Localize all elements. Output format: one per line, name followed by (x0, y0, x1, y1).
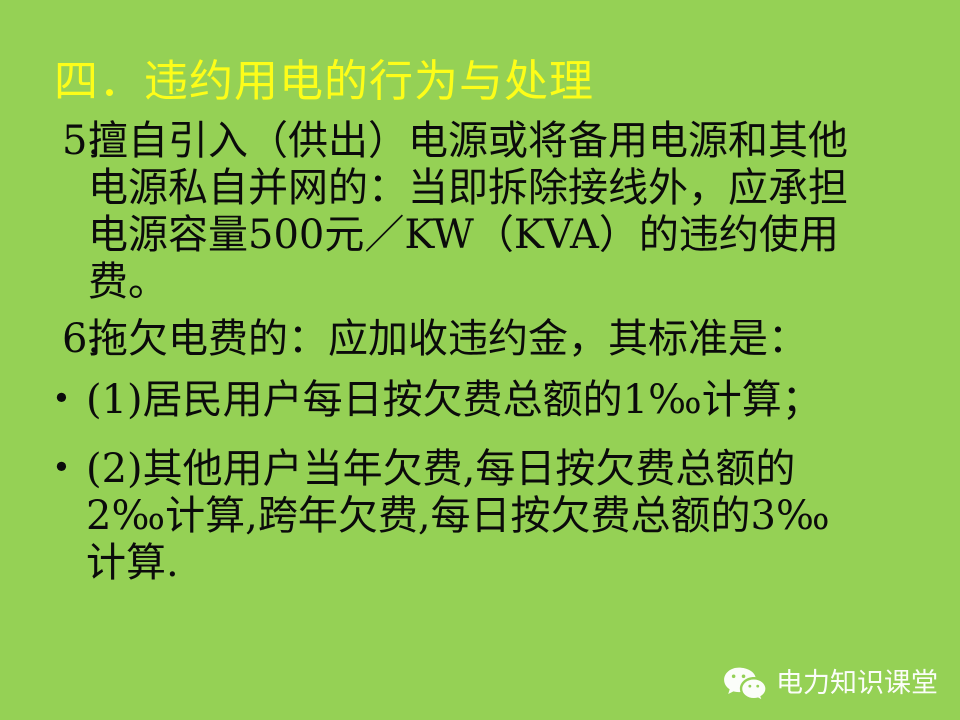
bullet-item-2-text: (2)其他用户当年欠费,每日按欠费总额的2‰计算,跨年欠费,每日按欠费总额的3‰… (86, 446, 830, 586)
bullet-marker-icon: • (52, 375, 71, 422)
list-item-5: 5.擅自引入（供出）电源或将备用电源和其他电源私自并网的：当即拆除接线外，应承担… (62, 118, 870, 306)
list-item-6-text: 拖欠电费的：应加收违约金，其标准是： (88, 316, 808, 362)
watermark: 电力知识课堂 (723, 666, 938, 702)
list-item-6-marker: 6. (62, 316, 100, 363)
wechat-icon (723, 666, 767, 702)
bullet-marker-icon: • (52, 444, 71, 491)
list-item-5-text: 擅自引入（供出）电源或将备用电源和其他电源私自并网的：当即拆除接线外，应承担电源… (88, 118, 848, 305)
list-item-5-marker: 5. (62, 118, 100, 165)
list-item-6: 6.拖欠电费的：应加收违约金，其标准是： (62, 316, 870, 363)
slide-canvas: 四．违约用电的行为与处理 5.擅自引入（供出）电源或将备用电源和其他电源私自并网… (0, 0, 960, 720)
bullet-item-1-text: (1)居民用户每日按欠费总额的1‰计算； (86, 377, 822, 423)
watermark-label: 电力知识课堂 (776, 669, 938, 699)
page-title: 四．违约用电的行为与处理 (54, 56, 594, 108)
bullet-item-2: •(2)其他用户当年欠费,每日按欠费总额的2‰计算,跨年欠费,每日按欠费总额的3… (50, 446, 868, 587)
bullet-item-1: •(1)居民用户每日按欠费总额的1‰计算； (50, 377, 868, 424)
body-content: 5.擅自引入（供出）电源或将备用电源和其他电源私自并网的：当即拆除接线外，应承担… (0, 118, 960, 587)
